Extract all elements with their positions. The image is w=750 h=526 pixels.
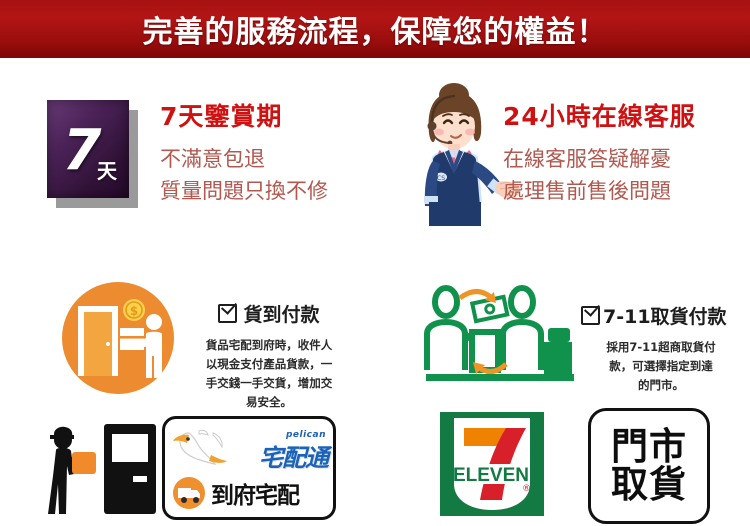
seven-eleven-wordmark: ELEVEN [453, 465, 529, 486]
banner-title: 完善的服務流程，保障您的權益！ [143, 7, 608, 51]
pelican-brand-cn: 宅配通 [259, 438, 328, 473]
delivery-truck-icon [173, 477, 205, 509]
cod-body-line-4: 易安全。 [180, 393, 358, 412]
cod-body-line-1: 貨品宅配到府時，收件人 [180, 336, 358, 355]
support-heading: 24小時在線客服 [503, 103, 696, 131]
store-pickup-body-line-2: 款，可選擇指定到達 [581, 357, 741, 376]
cod-body-line-3: 手交錢一手交貨，增加交 [180, 374, 358, 393]
store-counter-exchange-icon [424, 282, 576, 390]
checkbox-checked-icon [581, 306, 600, 325]
promo-page: 完善的服務流程，保障您的權益！ 7 天 7天鑒賞期 不滿意包退 質量問題只換不修 [0, 0, 750, 526]
registered-mark: ® [522, 484, 531, 494]
returns-line-1: 不滿意包退 [160, 143, 328, 176]
store-pickup-label-card: 門市 取貨 [588, 408, 710, 524]
store-pickup-body-line-1: 採用7-11超商取貨付 [581, 338, 741, 357]
store-pickup-heading: 7-11取貨付款 [603, 302, 727, 329]
cod-body-line-2: 以現金支付產品貨款，一 [180, 355, 358, 374]
returns-line-2: 質量問題只換不修 [160, 175, 328, 208]
badge-number: 7 [63, 123, 102, 179]
returns-text-block: 7天鑒賞期 不滿意包退 質量問題只換不修 [160, 103, 328, 208]
pelican-service-row: 到府宅配 [173, 474, 328, 512]
door-cash-delivery-icon: $ [62, 282, 174, 394]
cod-text-block: 貨到付款 貨品宅配到府時，收件人 以現金支付產品貨款，一 手交錢一手交貨，增加交… [180, 300, 358, 412]
store-pickup-label-line-2: 取貨 [611, 466, 687, 504]
seven-eleven-logo: ELEVEN ® [440, 412, 544, 516]
seven-day-badge: 7 天 [47, 100, 139, 210]
svg-text:CS: CS [437, 175, 445, 182]
cod-heading: 貨到付款 [243, 300, 319, 327]
badge-face: 7 天 [47, 100, 129, 198]
pelican-brand-row: pelican 宅配通 [165, 423, 333, 471]
courier-door-delivery-icon [34, 418, 159, 518]
checkbox-checked-icon [218, 304, 237, 323]
support-line-2: 處理售前售後問題 [503, 175, 696, 208]
store-pickup-heading-row: 7-11取貨付款 [581, 302, 741, 329]
pelican-home-delivery-logo: pelican 宅配通 到府宅配 [162, 416, 336, 520]
cod-heading-row: 貨到付款 [180, 300, 358, 327]
pelican-service-label: 到府宅配 [211, 476, 299, 510]
store-pickup-label-line-1: 門市 [611, 428, 687, 466]
returns-heading: 7天鑒賞期 [160, 103, 328, 131]
support-text-block: 24小時在線客服 在線客服答疑解憂 處理售前售後問題 [503, 103, 696, 208]
store-pickup-body-line-3: 的門市。 [581, 376, 741, 395]
support-line-1: 在線客服答疑解憂 [503, 143, 696, 176]
pelican-bird-icon [169, 423, 239, 471]
store-pickup-text-block: 7-11取貨付款 採用7-11超商取貨付 款，可選擇指定到達 的門市。 [581, 302, 741, 395]
badge-unit: 天 [97, 155, 117, 184]
svg-text:$: $ [130, 304, 138, 318]
header-banner: 完善的服務流程，保障您的權益！ [0, 0, 750, 58]
